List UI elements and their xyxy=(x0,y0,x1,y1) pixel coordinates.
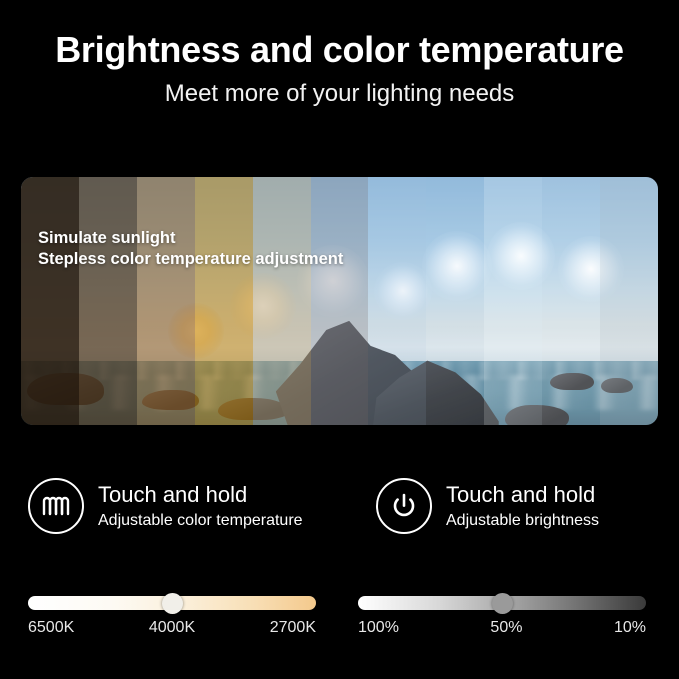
feature-text: Touch and hold Adjustable brightness xyxy=(446,482,599,529)
brightness-scale: 100% 50% 10% xyxy=(358,619,646,637)
power-icon xyxy=(376,478,432,534)
band-1 xyxy=(21,177,79,425)
band-9 xyxy=(484,177,542,425)
feature-title: Touch and hold xyxy=(98,482,303,507)
band-3 xyxy=(137,177,195,425)
band-10 xyxy=(542,177,600,425)
feature-brightness: Touch and hold Adjustable brightness xyxy=(376,478,599,534)
scale-label-min: 100% xyxy=(358,619,399,637)
color-temperature-scale: 6500K 4000K 2700K xyxy=(28,619,316,637)
color-temperature-track[interactable] xyxy=(28,596,316,610)
scale-label-mid: 50% xyxy=(490,619,522,637)
page-subtitle: Meet more of your lighting needs xyxy=(0,80,679,108)
feature-subtitle: Adjustable brightness xyxy=(446,511,599,530)
color-temperature-knob[interactable] xyxy=(162,593,183,614)
band-11 xyxy=(600,177,658,425)
slider-row: 6500K 4000K 2700K 100% 50% 10% xyxy=(0,596,679,637)
hero-caption-line-2: Stepless color temperature adjustment xyxy=(38,249,343,270)
feature-subtitle: Adjustable color temperature xyxy=(98,511,303,530)
band-8 xyxy=(426,177,484,425)
color-temperature-bands xyxy=(21,177,658,425)
scale-label-min: 6500K xyxy=(28,619,74,637)
band-2 xyxy=(79,177,137,425)
page-title: Brightness and color temperature xyxy=(0,30,679,70)
band-5 xyxy=(253,177,311,425)
band-7 xyxy=(368,177,426,425)
band-4 xyxy=(195,177,253,425)
color-temperature-slider[interactable]: 6500K 4000K 2700K xyxy=(28,596,316,637)
brightness-track[interactable] xyxy=(358,596,646,610)
product-feature-page: Brightness and color temperature Meet mo… xyxy=(0,0,679,679)
hero-image: Simulate sunlight Stepless color tempera… xyxy=(21,177,658,425)
feature-color-temperature: Touch and hold Adjustable color temperat… xyxy=(28,478,358,534)
scale-label-max: 10% xyxy=(614,619,646,637)
feature-text: Touch and hold Adjustable color temperat… xyxy=(98,482,303,529)
band-6 xyxy=(311,177,369,425)
scale-label-mid: 4000K xyxy=(149,619,195,637)
scale-label-max: 2700K xyxy=(270,619,316,637)
feature-row: Touch and hold Adjustable color temperat… xyxy=(0,478,679,534)
hero-caption-line-1: Simulate sunlight xyxy=(38,228,343,249)
header: Brightness and color temperature Meet mo… xyxy=(0,30,679,107)
hero-caption: Simulate sunlight Stepless color tempera… xyxy=(38,228,343,270)
feature-title: Touch and hold xyxy=(446,482,599,507)
brightness-knob[interactable] xyxy=(492,593,513,614)
filament-wave-icon xyxy=(28,478,84,534)
brightness-slider[interactable]: 100% 50% 10% xyxy=(358,596,646,637)
